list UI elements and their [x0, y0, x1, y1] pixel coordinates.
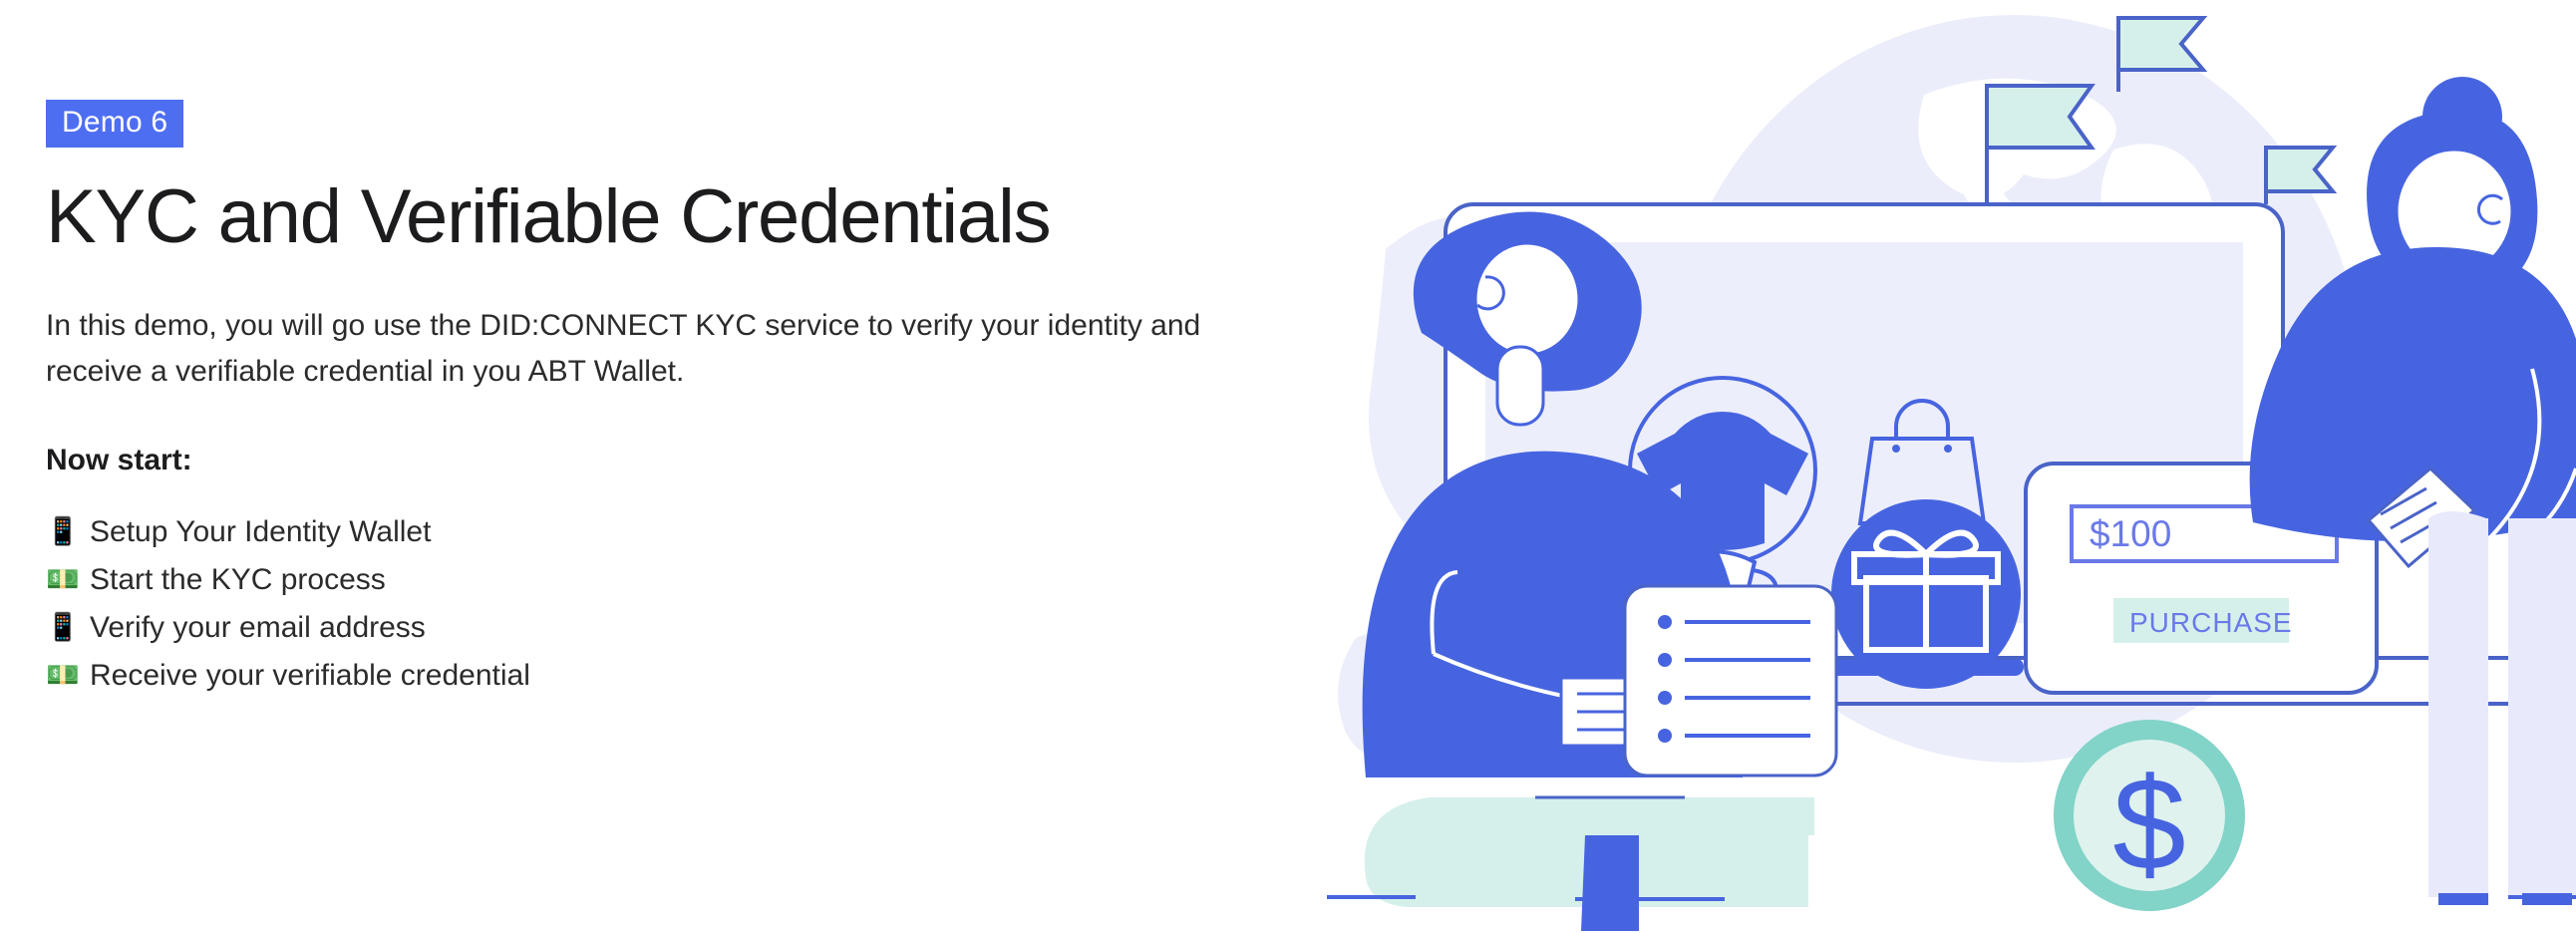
amount-field-value: $100	[2090, 513, 2171, 554]
steps-list: 📱 Setup Your Identity Wallet 💵 Start the…	[46, 517, 1326, 691]
dollar-banknote-emoji: 💵	[46, 566, 90, 593]
now-start-heading: Now start:	[46, 444, 1326, 477]
page-title: KYC and Verifiable Credentials	[46, 177, 1326, 257]
list-item-label: Receive your verifiable credential	[90, 661, 530, 691]
demo-landing-page: Demo 6 KYC and Verifiable Credentials In…	[0, 0, 2576, 933]
list-item-label: Start the KYC process	[90, 565, 386, 595]
mobile-phone-emoji: 📱	[46, 518, 90, 545]
purchase-button[interactable]: PURCHASE	[2113, 598, 2293, 643]
dollar-coin: $	[2054, 720, 2245, 911]
hero-illustration: $100 PURCHASE	[1326, 0, 2576, 933]
list-item-label: Verify your email address	[90, 613, 426, 643]
illustration-canvas: $100 PURCHASE	[1326, 0, 2576, 933]
dollar-coin-symbol: $	[2112, 751, 2185, 897]
dollar-banknote-emoji: 💵	[46, 662, 90, 689]
gift-icon	[1831, 499, 2021, 689]
content-column: Demo 6 KYC and Verifiable Credentials In…	[0, 0, 1326, 933]
purchase-button-label: PURCHASE	[2129, 607, 2293, 638]
list-item-label: Setup Your Identity Wallet	[90, 517, 431, 547]
list-item: 💵 Start the KYC process	[46, 565, 1326, 595]
intro-paragraph: In this demo, you will go use the DID:CO…	[46, 303, 1222, 396]
demo-badge: Demo 6	[46, 100, 183, 148]
mobile-phone-emoji: 📱	[46, 614, 90, 641]
list-item: 📱 Setup Your Identity Wallet	[46, 517, 1326, 547]
list-item: 💵 Receive your verifiable credential	[46, 661, 1326, 691]
list-item: 📱 Verify your email address	[46, 613, 1326, 643]
checklist-card	[1625, 586, 1836, 776]
